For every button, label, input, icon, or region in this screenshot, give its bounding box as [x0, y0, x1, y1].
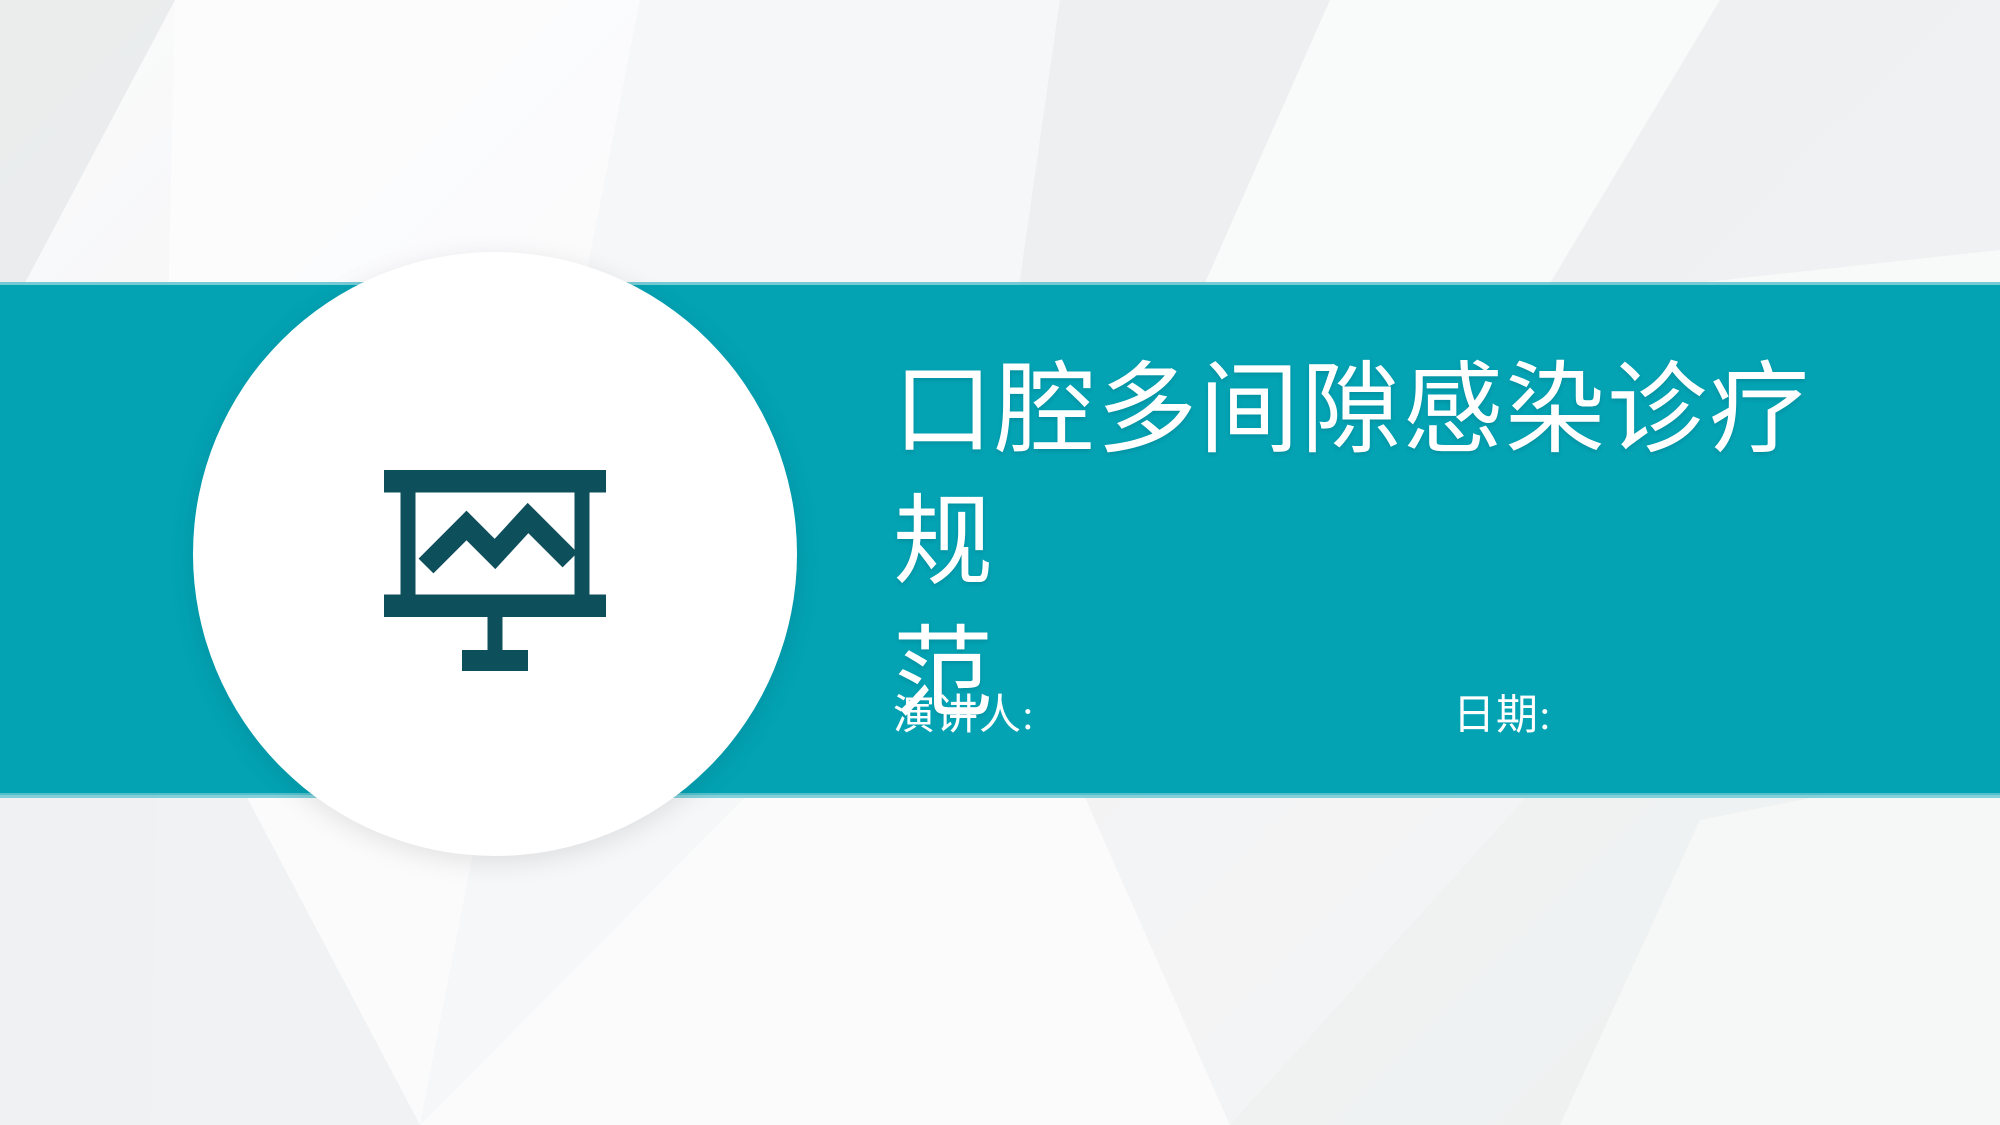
date-label: 日期:	[1453, 693, 1552, 739]
page-title: 口腔多间隙感染诊疗规 范	[893, 345, 1908, 741]
speaker-label: 演讲人:	[893, 693, 1035, 739]
date-field[interactable]: 日期:	[1453, 690, 1908, 743]
presentation-screen-chart-icon	[193, 252, 797, 856]
page-title-line-1: 口腔多间隙感染诊疗规	[893, 345, 1908, 609]
slide-meta-row: 演讲人: 日期:	[893, 690, 1908, 743]
speaker-field[interactable]: 演讲人:	[893, 690, 1453, 743]
title-slide: 口腔多间隙感染诊疗规 范 演讲人: 日期:	[0, 0, 2000, 1125]
presentation-screen-chart-icon-glyph	[345, 404, 645, 704]
